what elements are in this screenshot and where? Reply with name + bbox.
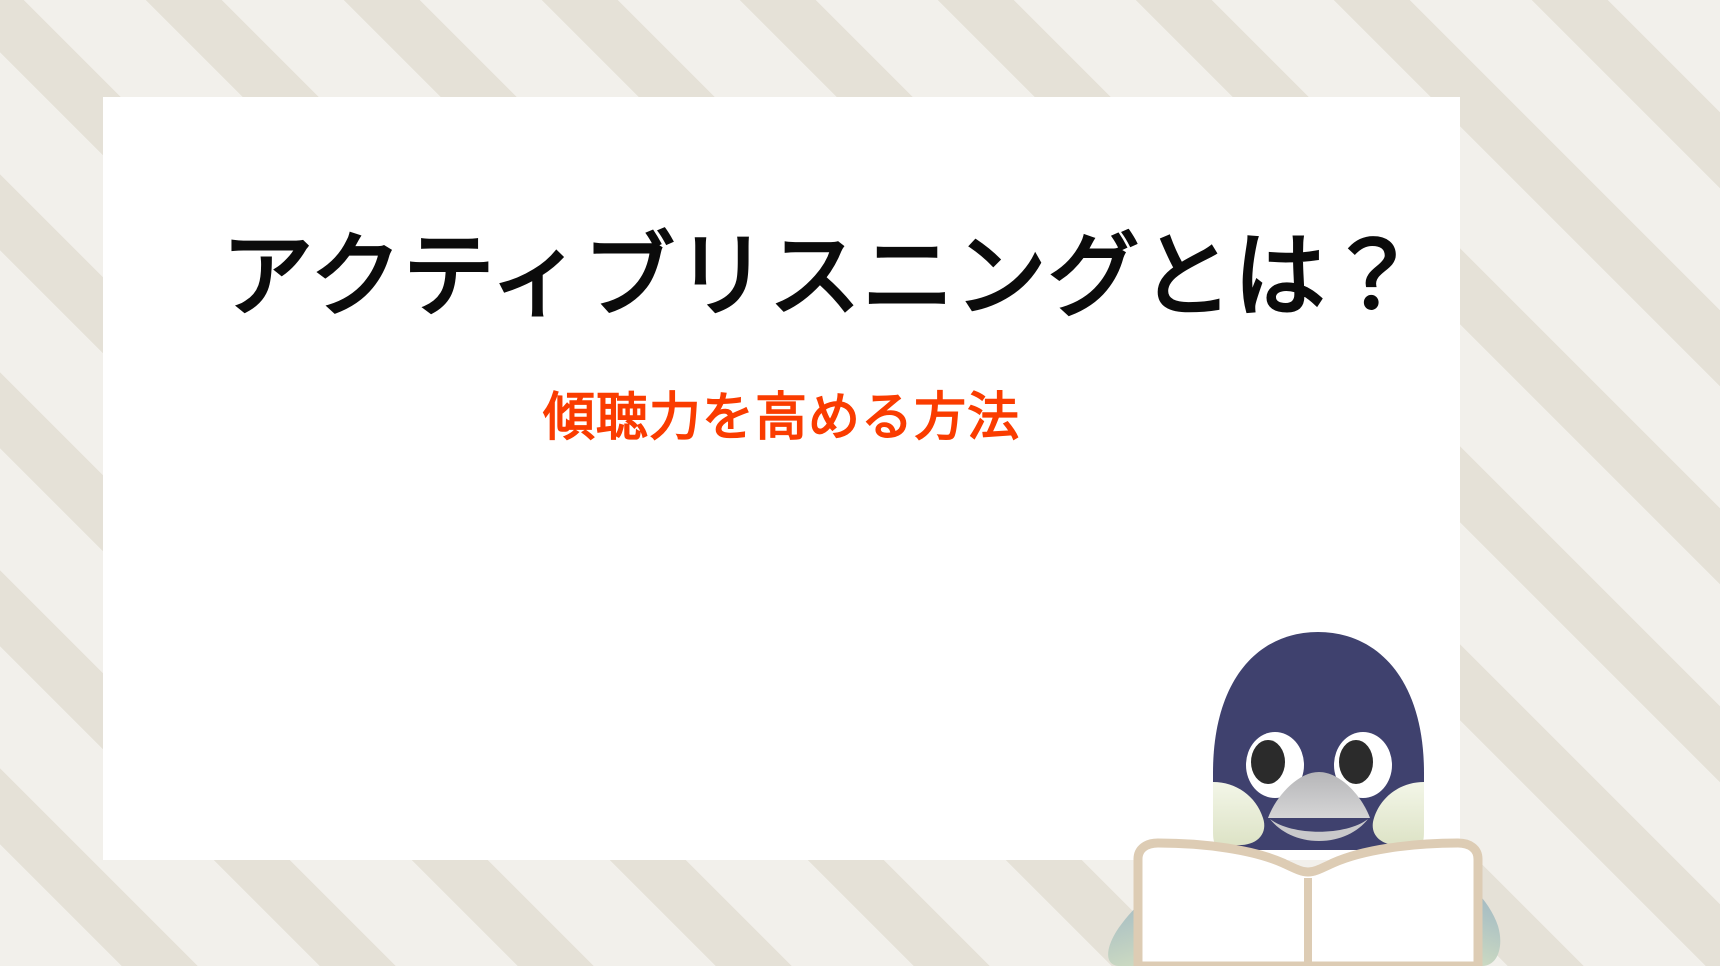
white-content-card: アクティブリスニングとは？ 傾聴力を高める方法 bbox=[103, 97, 1460, 860]
title-text-stack: アクティブリスニングとは？ 傾聴力を高める方法 bbox=[103, 97, 1460, 860]
page-title: アクティブリスニングとは？ bbox=[222, 209, 1342, 345]
page-subtitle: 傾聴力を高める方法 bbox=[543, 345, 1020, 453]
title-card-canvas: アクティブリスニングとは？ 傾聴力を高める方法 bbox=[0, 0, 1720, 966]
